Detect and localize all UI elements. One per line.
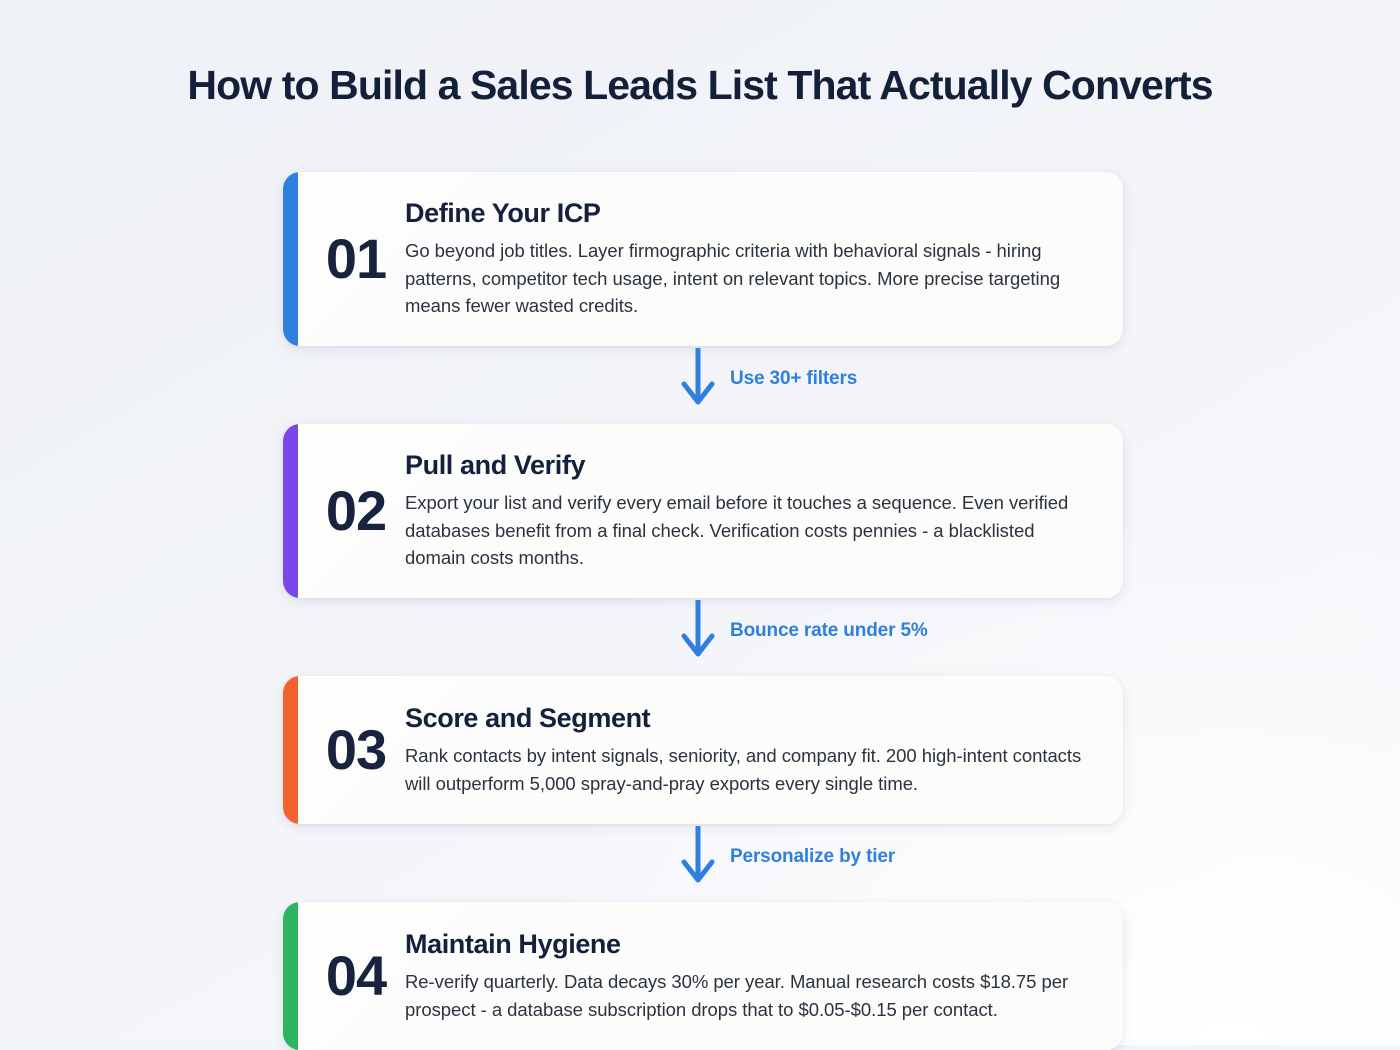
step-title-04: Maintain Hygiene [405, 929, 1089, 961]
connector-02: Bounce rate under 5% [283, 598, 1123, 676]
step-card-04: 04 Maintain Hygiene Re-verify quarterly.… [283, 902, 1123, 1050]
step-title-01: Define Your ICP [405, 198, 1089, 230]
connector-03: Personalize by tier [283, 824, 1123, 902]
step-description-04: Re-verify quarterly. Data decays 30% per… [405, 968, 1089, 1024]
step-description-02: Export your list and verify every email … [405, 489, 1089, 572]
step-title-03: Score and Segment [405, 703, 1089, 735]
step-accent-bar-03 [283, 676, 298, 824]
step-card-02: 02 Pull and Verify Export your list and … [283, 424, 1123, 598]
step-content-01: Define Your ICP Go beyond job titles. La… [405, 172, 1123, 346]
step-content-04: Maintain Hygiene Re-verify quarterly. Da… [405, 903, 1123, 1049]
step-number-03: 03 [283, 722, 405, 778]
page-title: How to Build a Sales Leads List That Act… [0, 62, 1400, 109]
arrow-down-icon [680, 600, 716, 665]
process-flow: 01 Define Your ICP Go beyond job titles.… [283, 172, 1123, 1050]
infographic-page: How to Build a Sales Leads List That Act… [0, 0, 1400, 1045]
step-title-02: Pull and Verify [405, 450, 1089, 482]
step-description-03: Rank contacts by intent signals, seniori… [405, 742, 1089, 798]
step-content-03: Score and Segment Rank contacts by inten… [405, 677, 1123, 823]
step-number-04: 04 [283, 948, 405, 1004]
step-content-02: Pull and Verify Export your list and ver… [405, 424, 1123, 598]
step-card-01: 01 Define Your ICP Go beyond job titles.… [283, 172, 1123, 346]
step-accent-bar-02 [283, 424, 298, 598]
step-accent-bar-01 [283, 172, 298, 346]
arrow-down-icon [680, 348, 716, 413]
connector-label-01: Use 30+ filters [730, 368, 857, 390]
step-card-03: 03 Score and Segment Rank contacts by in… [283, 676, 1123, 824]
connector-label-03: Personalize by tier [730, 846, 895, 868]
step-accent-bar-04 [283, 902, 298, 1050]
step-number-02: 02 [283, 483, 405, 539]
connector-01: Use 30+ filters [283, 346, 1123, 424]
arrow-down-icon [680, 826, 716, 891]
step-number-01: 01 [283, 231, 405, 287]
step-description-01: Go beyond job titles. Layer firmographic… [405, 237, 1089, 320]
connector-label-02: Bounce rate under 5% [730, 620, 928, 642]
